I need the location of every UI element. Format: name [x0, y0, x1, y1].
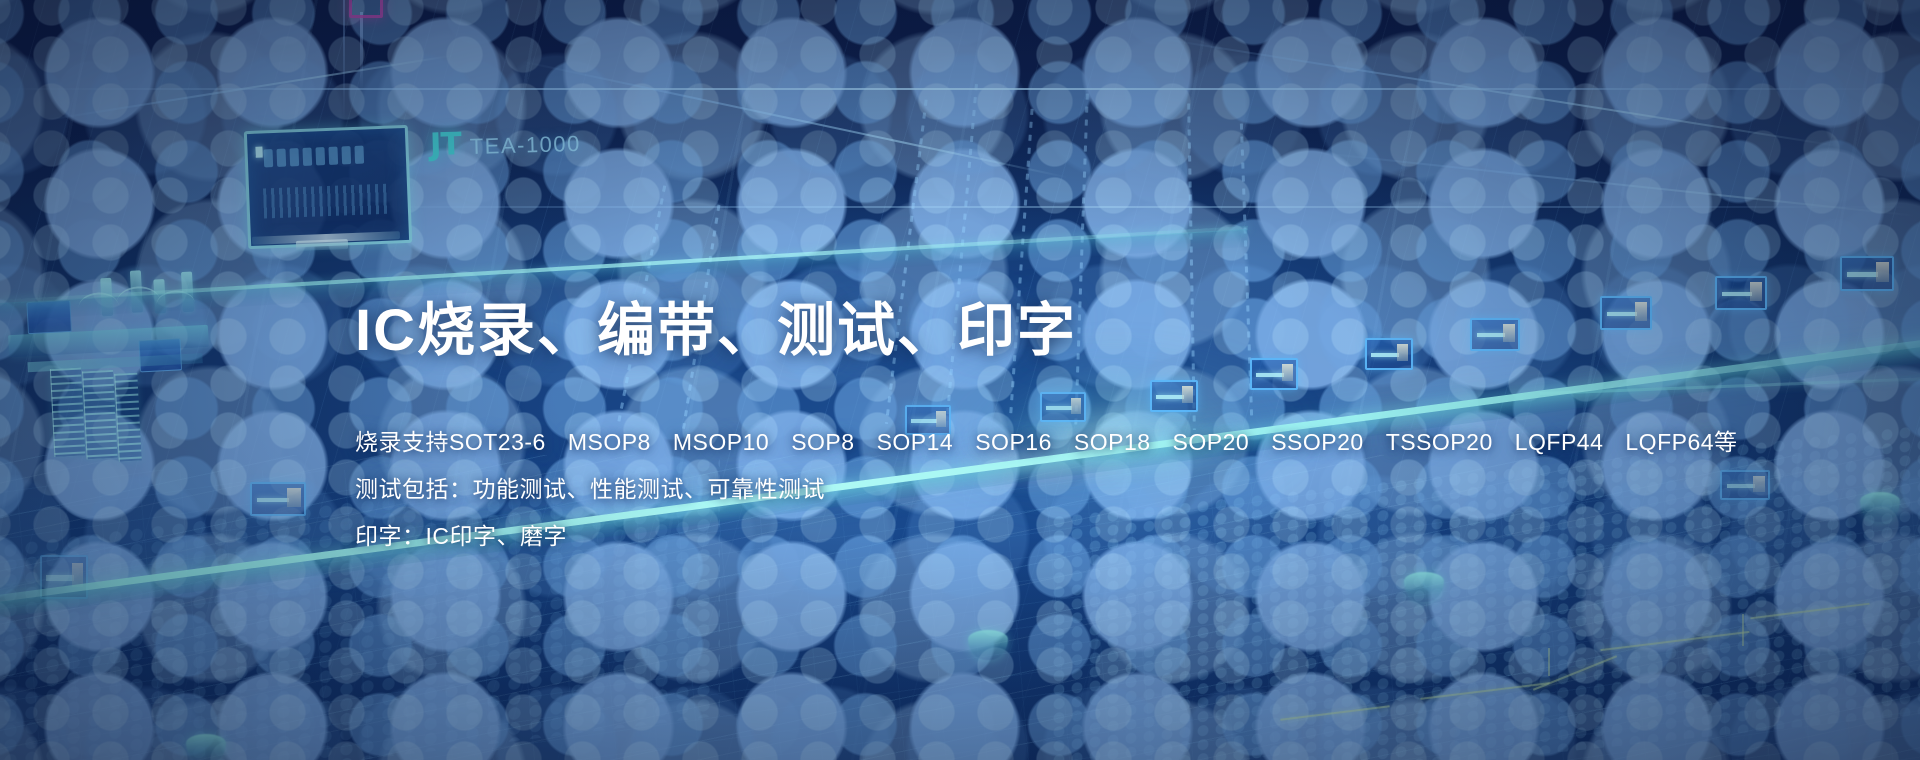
package-name: SOP8 — [791, 429, 854, 455]
ic-service-hero-banner: JT TEA-1000 — [0, 0, 1920, 760]
package-name: SOP14 — [877, 429, 954, 455]
ceiling-beam-diagonal — [520, 60, 1068, 178]
circuit-trace — [1750, 603, 1869, 620]
chip-tray — [1840, 256, 1894, 291]
circuit-trace — [1533, 655, 1617, 691]
package-name: MSOP10 — [673, 429, 769, 455]
conveyor-support-foot — [1404, 572, 1444, 602]
package-name: TSSOP20 — [1386, 429, 1493, 455]
monitor-screen-chips — [264, 146, 365, 168]
chip-tray — [1720, 470, 1770, 500]
brand-name: JT — [430, 126, 462, 163]
package-name: SOP18 — [1074, 429, 1151, 455]
ceiling-wire — [360, 12, 363, 90]
package-name: MSOP8 — [568, 429, 651, 455]
ceiling-fixture-icon — [349, 0, 383, 18]
package-name: SSOP20 — [1271, 429, 1364, 455]
machine-magazine — [50, 368, 86, 458]
circuit-trace — [1280, 705, 1389, 720]
package-name: SOP16 — [975, 429, 1052, 455]
ceiling-beam — [0, 88, 1920, 90]
chip-tray — [1600, 296, 1652, 330]
machine-magazine — [82, 370, 118, 460]
ceiling-wire — [343, 0, 345, 120]
package-list: SOT23-6MSOP8MSOP10SOP8SOP14SOP16SOP18SOP… — [449, 429, 1738, 455]
workstation-monitor — [244, 125, 412, 249]
circuit-trace — [1600, 631, 1749, 651]
chip-tray — [250, 482, 306, 516]
subtitle-packages: 烧录支持SOT23-6MSOP8MSOP10SOP8SOP14SOP16SOP1… — [355, 419, 1605, 466]
subtitle-marking: 印字：IC印字、磨字 — [355, 513, 1605, 560]
package-name: LQFP64等 — [1625, 429, 1737, 455]
ceiling-beam — [300, 206, 1920, 208]
monitor-screen-bars — [263, 184, 390, 219]
machine-magazine — [114, 373, 142, 462]
circuit-trace — [1548, 648, 1550, 676]
circuit-trace — [1420, 682, 1549, 700]
burn-prefix-label: 烧录支持 — [355, 429, 449, 455]
package-name: SOP20 — [1173, 429, 1250, 455]
page-title: IC烧录、编带、测试、印字 — [355, 300, 1605, 363]
conveyor-support-foot — [1860, 492, 1900, 522]
hero-content: IC烧录、编带、测试、印字 烧录支持SOT23-6MSOP8MSOP10SOP8… — [355, 300, 1605, 560]
conveyor-support-foot — [968, 630, 1008, 660]
subtitle-testing: 测试包括：功能测试、性能测试、可靠性测试 — [355, 466, 1605, 513]
conveyor-support-foot — [186, 734, 226, 760]
chip-tray — [1715, 276, 1767, 310]
circuit-trace — [1742, 614, 1744, 646]
package-name: SOT23-6 — [449, 429, 546, 455]
ceiling-beam-diagonal — [1150, 36, 1842, 147]
brand-model: TEA-1000 — [469, 131, 581, 160]
monitor-indicator-led — [255, 146, 262, 157]
package-name: LQFP44 — [1515, 429, 1604, 455]
machine-brand-label: JT TEA-1000 — [430, 123, 582, 163]
